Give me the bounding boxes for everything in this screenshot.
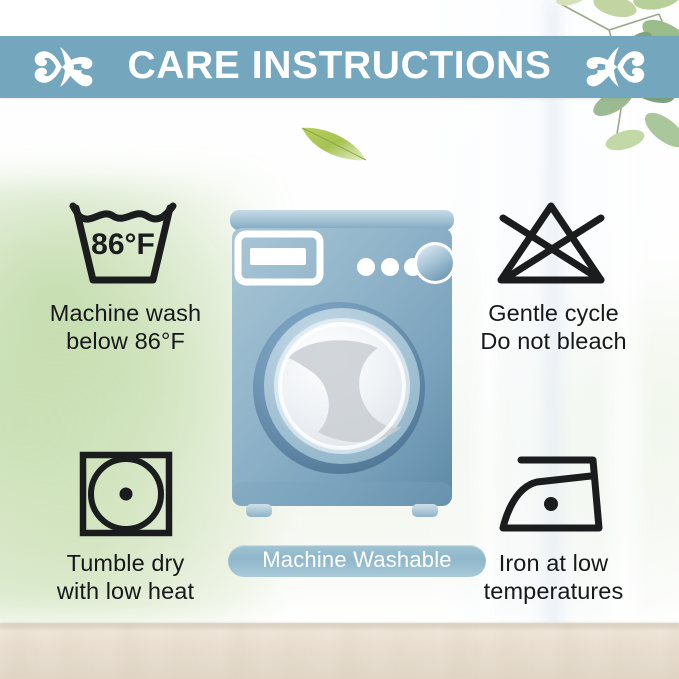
care-symbol-machine-wash: 86°F Machine wash below 86°F	[18, 196, 233, 355]
triangle-crossed-out-icon	[489, 196, 619, 292]
leaf-icon	[298, 120, 370, 166]
tumble-dry-low-icon	[74, 446, 178, 542]
page-title: CARE INSTRUCTIONS	[0, 36, 679, 98]
iron-one-dot-icon	[489, 446, 619, 542]
wash-temperature-value: 86°F	[91, 228, 155, 261]
table-wood-grain	[0, 623, 679, 679]
care-symbol-label: Tumble dry with low heat	[18, 550, 233, 605]
status-badge-label: Machine Washable	[262, 549, 451, 573]
care-symbol-label: Machine wash below 86°F	[18, 300, 233, 355]
care-symbol-gentle-no-bleach: Gentle cycle Do not bleach	[446, 196, 661, 355]
wooden-table-surface	[0, 623, 679, 679]
wash-tub-icon: 86°F	[61, 196, 191, 292]
care-symbol-iron: Iron at low temperatures	[446, 446, 661, 605]
care-symbol-label: Gentle cycle Do not bleach	[446, 300, 661, 355]
status-badge: Machine Washable	[228, 545, 486, 577]
front-load-washing-machine-icon	[226, 208, 458, 530]
care-symbol-tumble-dry: Tumble dry with low heat	[18, 446, 233, 605]
banner: CARE INSTRUCTIONS	[0, 36, 679, 98]
fleur-de-lis-icon	[583, 41, 653, 93]
care-instructions-infographic: CARE INSTRUCTIONS 86°F Machine was	[0, 0, 679, 679]
